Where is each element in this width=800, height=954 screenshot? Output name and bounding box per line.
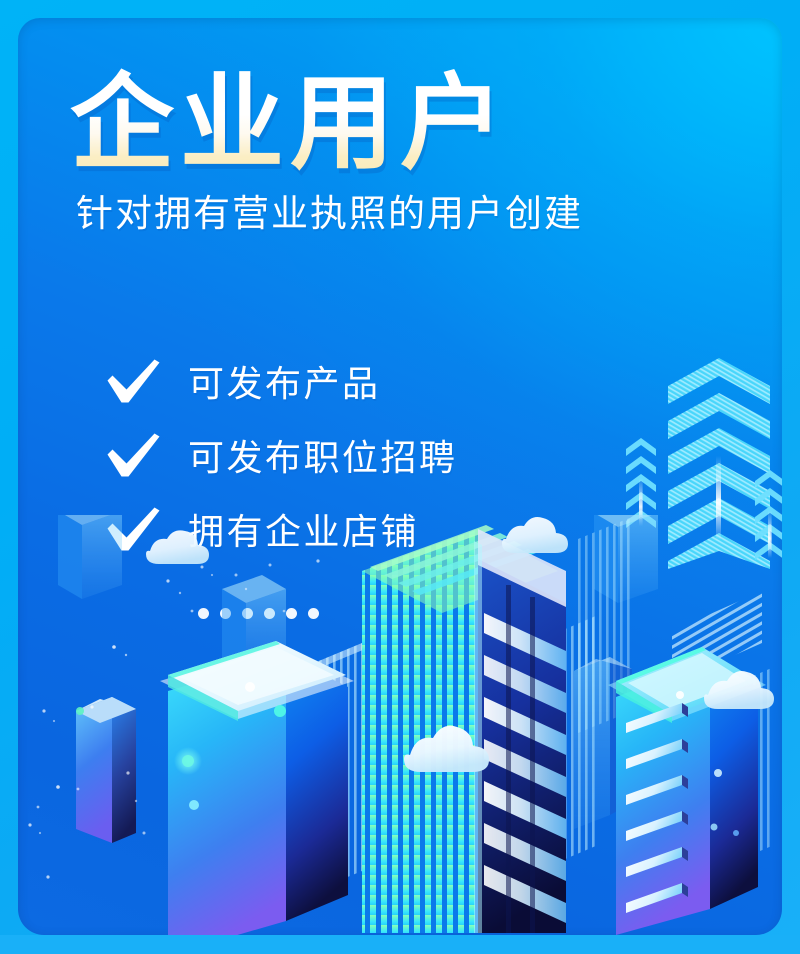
cloud-icon bbox=[502, 517, 568, 553]
poster-bottom-strip bbox=[0, 935, 800, 954]
page-subtitle: 针对拥有营业执照的用户创建 bbox=[76, 192, 750, 236]
building-left-main bbox=[160, 641, 354, 935]
feature-label: 可发布产品 bbox=[188, 355, 381, 407]
list-item: 可发布职位招聘 bbox=[104, 418, 624, 492]
page-title: 企业用户 bbox=[70, 66, 750, 182]
bg-block-far-left bbox=[58, 515, 122, 599]
check-icon bbox=[104, 358, 162, 404]
feature-label: 可发布职位招聘 bbox=[188, 429, 458, 481]
enterprise-user-poster: 企业用户 针对拥有营业执照的用户创建 可发布产品 可发布职位招聘 bbox=[0, 0, 800, 954]
city-illustration bbox=[18, 515, 782, 935]
poster-panel: 企业用户 针对拥有营业执照的用户创建 可发布产品 可发布职位招聘 bbox=[18, 18, 782, 935]
cloud-icon bbox=[146, 530, 209, 564]
headline-block: 企业用户 针对拥有营业执照的用户创建 bbox=[70, 66, 750, 237]
building-small-left bbox=[76, 697, 136, 843]
list-item: 可发布产品 bbox=[104, 344, 624, 418]
building-center-tall bbox=[362, 525, 566, 933]
check-icon bbox=[104, 432, 162, 478]
